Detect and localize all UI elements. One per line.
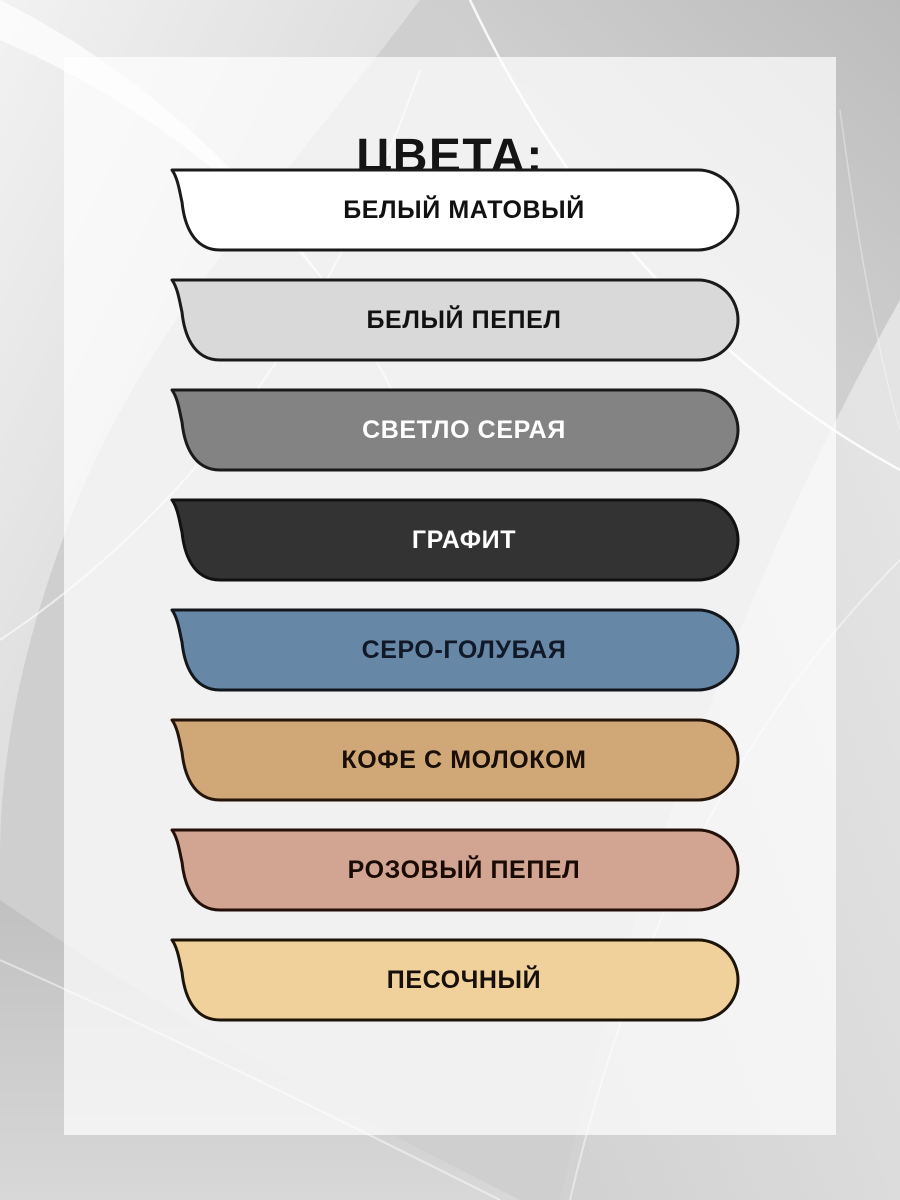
swatch-label: ПЕСОЧНЫЙ	[387, 966, 541, 995]
swatch-label: СЕРО-ГОЛУБАЯ	[362, 636, 567, 665]
swatch-label: РОЗОВЫЙ ПЕПЕЛ	[348, 856, 581, 885]
swatch-label: ГРАФИТ	[412, 526, 516, 555]
swatch-label: СВЕТЛО СЕРАЯ	[362, 416, 566, 445]
color-swatch[interactable]: КОФЕ С МОЛОКОМ	[170, 718, 740, 802]
color-swatch[interactable]: СВЕТЛО СЕРАЯ	[170, 388, 740, 472]
color-swatch[interactable]: ПЕСОЧНЫЙ	[170, 938, 740, 1022]
color-swatch[interactable]: РОЗОВЫЙ ПЕПЕЛ	[170, 828, 740, 912]
color-swatch-list: БЕЛЫЙ МАТОВЫЙБЕЛЫЙ ПЕПЕЛСВЕТЛО СЕРАЯГРАФ…	[170, 168, 740, 1022]
swatch-label: КОФЕ С МОЛОКОМ	[341, 746, 586, 775]
palette-card: ЦВЕТА: БЕЛЫЙ МАТОВЫЙБЕЛЫЙ ПЕПЕЛСВЕТЛО СЕ…	[64, 57, 836, 1135]
color-swatch[interactable]: ГРАФИТ	[170, 498, 740, 582]
color-swatch[interactable]: БЕЛЫЙ МАТОВЫЙ	[170, 168, 740, 252]
swatch-label: БЕЛЫЙ МАТОВЫЙ	[343, 196, 585, 225]
color-palette-screen: ЦВЕТА: БЕЛЫЙ МАТОВЫЙБЕЛЫЙ ПЕПЕЛСВЕТЛО СЕ…	[0, 0, 900, 1200]
color-swatch[interactable]: СЕРО-ГОЛУБАЯ	[170, 608, 740, 692]
color-swatch[interactable]: БЕЛЫЙ ПЕПЕЛ	[170, 278, 740, 362]
swatch-label: БЕЛЫЙ ПЕПЕЛ	[366, 306, 561, 335]
